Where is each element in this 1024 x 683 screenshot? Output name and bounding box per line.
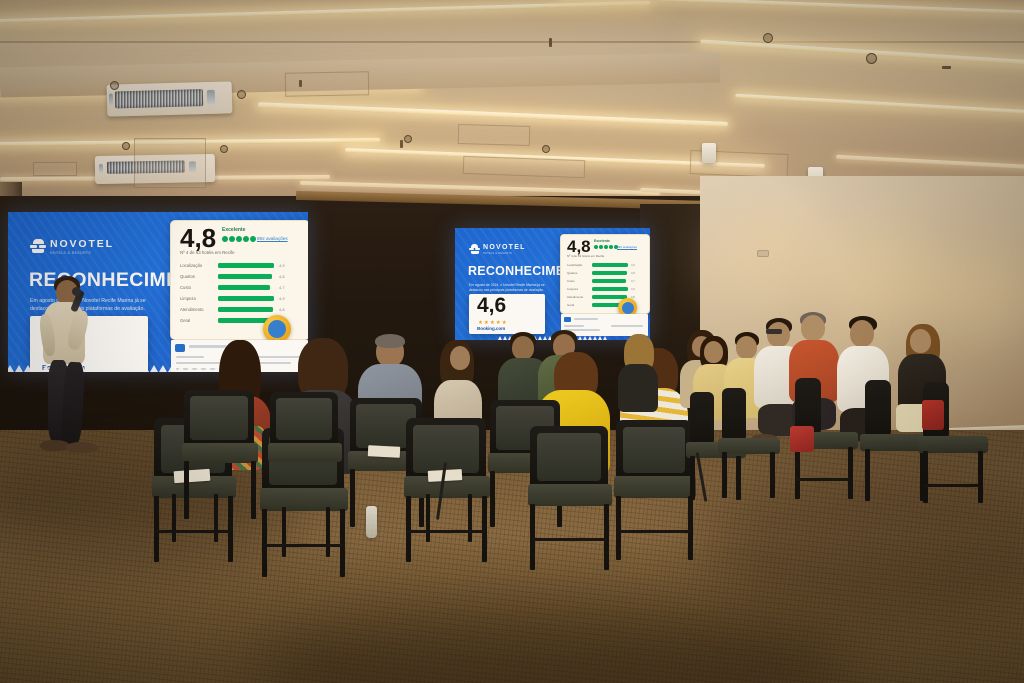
chair-back-pad [190, 396, 248, 440]
chair-backrest [722, 388, 746, 442]
presenter-leg [61, 362, 85, 447]
rating-reviews-link[interactable]: 892 avaliações [617, 246, 637, 249]
chair-front-yellow[interactable] [528, 426, 612, 574]
score-value-right: 4,6 [477, 297, 506, 316]
attendee-head [450, 346, 470, 370]
ac-slot [207, 90, 215, 105]
chair-leg [722, 452, 727, 498]
novotel-logo-mark-icon [469, 244, 480, 254]
review-avatar [564, 317, 571, 322]
category-name: Custo [567, 279, 589, 283]
ac-grille [115, 89, 203, 108]
category-bar [218, 274, 272, 279]
chair-leg [688, 496, 693, 560]
category-value: 4,7 [279, 285, 285, 290]
cylinder-downlight [702, 143, 716, 163]
chair-rail [263, 544, 343, 547]
chair-seat [614, 476, 696, 498]
presenter [30, 276, 110, 466]
chair-rail [796, 478, 850, 481]
chair-leg [406, 496, 411, 562]
chair-front-striped[interactable] [614, 420, 696, 564]
category-bar [592, 271, 627, 274]
attendee-black-tank [612, 334, 664, 410]
conference-room-photo: NOVOTEL HOTELS & RESORTS RECONHECIMENTO … [0, 0, 1024, 683]
rating-score: 4,8 [567, 239, 591, 254]
chair-leg [350, 469, 355, 527]
attendee-head [512, 336, 534, 360]
category-bar [218, 263, 274, 268]
rating-category-row: Localização 4,9 [180, 263, 300, 268]
rating-category-row: Atendimento 4,8 [567, 295, 647, 299]
chair-row2-left[interactable] [182, 390, 258, 524]
review-text-line [564, 325, 584, 327]
chair-leg [770, 452, 775, 498]
sprinkler-drop [400, 140, 403, 148]
chair-rail [924, 484, 980, 487]
rating-category-row: Localização 4,9 [567, 263, 647, 267]
booking-logo-right: Booking.com [477, 327, 505, 332]
chair-leg [604, 504, 609, 570]
category-value: 4,7 [631, 280, 635, 283]
microphone-head-icon [72, 287, 81, 296]
ceiling-access-panel [458, 124, 531, 146]
review-text-line [574, 318, 598, 320]
sprinkler-head-icon [110, 81, 119, 90]
chair-leg [184, 461, 189, 519]
chair-leg [468, 494, 472, 542]
category-name: Limpeza [180, 296, 214, 301]
attendee-top [618, 364, 658, 412]
ceiling-access-panel [134, 138, 206, 188]
rating-category-row: Atendimento 4,8 [180, 307, 300, 312]
chair-leg [690, 456, 695, 500]
attendee-head [767, 322, 790, 347]
chair-back-pad [623, 427, 685, 473]
rating-rank-note: Nº 4 de 63 hotéis em Recife [180, 251, 235, 255]
sprinkler-head-icon [404, 135, 412, 143]
attendee-head [850, 320, 874, 347]
novotel-logo-left: NOVOTEL HOTELS & RESORTS [30, 239, 114, 255]
category-name: Atendimento [567, 295, 589, 299]
novotel-logo-sub: HOTELS & RESORTS [483, 253, 526, 255]
chair-rail [617, 530, 691, 533]
review-avatar [175, 344, 185, 352]
rating-category-row: Limpeza 4,9 [180, 296, 300, 301]
ac-diffuser-unit [107, 81, 233, 116]
chair-rail [155, 530, 231, 533]
category-name: Geral [567, 303, 589, 307]
chair-right-2[interactable] [718, 388, 782, 500]
category-bar [218, 307, 273, 312]
category-value: 4,9 [631, 264, 635, 267]
attendee-head [801, 315, 825, 341]
score-card-right: 4,6 ★★★★★ Booking.com [469, 294, 545, 334]
category-name: Quartos [180, 274, 214, 279]
novotel-logo-right: NOVOTEL HOTELS & RESORTS [469, 244, 526, 255]
attendee-glasses-icon [766, 329, 782, 334]
novotel-logo-mark-icon [30, 239, 47, 254]
chair-leg [865, 449, 870, 501]
sprinkler-drop [299, 80, 302, 87]
chair-leg [848, 447, 853, 499]
water-bottle[interactable] [366, 506, 377, 538]
chair-leg [923, 451, 928, 503]
category-name: Custo [180, 285, 214, 290]
chair-seat [182, 443, 258, 463]
rating-word: Excelente [594, 240, 610, 243]
chair-leg [251, 461, 256, 519]
category-value: 4,8 [279, 274, 285, 279]
slide-body-line2: destacou nas principais plataformas de a… [469, 288, 544, 292]
rating-category-row: Quartos 4,8 [567, 271, 647, 275]
chair-front-mid[interactable] [404, 418, 490, 566]
chair-seat [268, 443, 342, 462]
rating-rank-note: Nº 4 de 63 hotéis em Recife [567, 255, 604, 258]
chair-leg [172, 494, 176, 542]
ceiling-access-panel [285, 71, 369, 96]
category-value: 4,9 [279, 296, 285, 301]
handbag[interactable] [922, 400, 944, 430]
category-bar [592, 287, 628, 290]
chair-rail [531, 538, 607, 541]
ac-slot [109, 93, 113, 105]
category-bar [592, 263, 628, 266]
attendee-hair [375, 334, 405, 348]
rating-score: 4,8 [180, 227, 216, 250]
category-name: Atendimento [180, 307, 214, 312]
attendee-head [910, 329, 931, 353]
slide-body-right: Em agosto de 2024, o Novotel Recife Mari… [469, 283, 569, 293]
chair-leg [426, 494, 430, 542]
wall-light-glow [826, 228, 946, 324]
chair-leg [154, 496, 159, 562]
chair-row2-center[interactable] [268, 392, 342, 520]
chair-backrest [690, 392, 714, 446]
rating-category-row: Custo 4,7 [567, 279, 647, 283]
sprinkler-head-icon [237, 90, 246, 99]
category-value: 4,8 [631, 272, 635, 275]
wall-light-glow [706, 212, 826, 302]
sprinkler-head-icon [542, 145, 550, 153]
chair-leg [262, 509, 267, 577]
category-name: Localização [180, 263, 214, 268]
category-value: 4,9 [279, 263, 285, 268]
wall-sensor-icon [757, 250, 769, 257]
handbag[interactable] [790, 426, 814, 452]
rating-stars-green [222, 236, 256, 242]
category-name: Quartos [567, 271, 589, 275]
chair-leg [616, 496, 621, 560]
rating-category-row: Custo 4,7 [180, 285, 300, 290]
chair-rail [407, 530, 485, 533]
chair-leg [795, 447, 800, 499]
rating-card-right: 4,8 Excelente 892 avaliações Nº 4 de 63 … [560, 234, 650, 314]
ceiling-access-panel [33, 162, 77, 176]
rating-category-row: Limpeza 4,9 [567, 287, 647, 291]
category-value: 4,9 [631, 288, 635, 291]
sprinkler-head-icon [122, 142, 130, 150]
rating-word: Excelente [222, 228, 245, 233]
rating-stars-green [594, 245, 618, 249]
category-name: Geral [180, 318, 214, 323]
category-name: Limpeza [567, 287, 589, 291]
chair-backrest [865, 380, 891, 438]
chair-back-pad [276, 398, 332, 440]
sprinkler-head-icon [866, 53, 877, 64]
category-name: Localização [567, 263, 589, 267]
sprinkler-drop [549, 38, 552, 47]
review-text-line [611, 325, 643, 327]
review-text-line [176, 356, 204, 358]
slide-right: NOVOTEL HOTELS & RESORTS RECONHECIMENTO … [455, 228, 650, 340]
slide-body-line1: Em agosto de 2024, o Novotel Recife Mari… [469, 283, 545, 287]
rating-reviews-link[interactable]: 892 avaliações [257, 237, 288, 242]
chair-leg [978, 451, 983, 503]
attendee-head [704, 341, 723, 363]
projection-screen-right: NOVOTEL HOTELS & RESORTS RECONHECIMENTO … [455, 228, 650, 340]
novotel-logo-text: NOVOTEL [50, 239, 114, 250]
chair-back-pad [537, 433, 601, 481]
handout-paper[interactable] [368, 445, 401, 458]
sprinkler-head-icon [763, 33, 773, 43]
chair-leg [490, 471, 495, 527]
category-bar [592, 295, 627, 298]
sprinkler-drop [942, 66, 951, 69]
novotel-logo-text: NOVOTEL [483, 244, 526, 251]
ac-slot [99, 164, 103, 173]
novotel-logo-sub: HOTELS & RESORTS [50, 252, 114, 255]
chair-leg [530, 504, 535, 570]
category-bar [218, 296, 274, 301]
category-bar [218, 285, 270, 290]
chair-seat [528, 484, 612, 506]
category-bar [592, 279, 626, 282]
ceiling-seam [0, 41, 1024, 43]
presenter-shoe [66, 442, 98, 453]
chair-leg [482, 496, 487, 562]
rating-category-row: Quartos 4,8 [180, 274, 300, 279]
category-value: 4,8 [279, 307, 285, 312]
sprinkler-head-icon [220, 145, 228, 153]
